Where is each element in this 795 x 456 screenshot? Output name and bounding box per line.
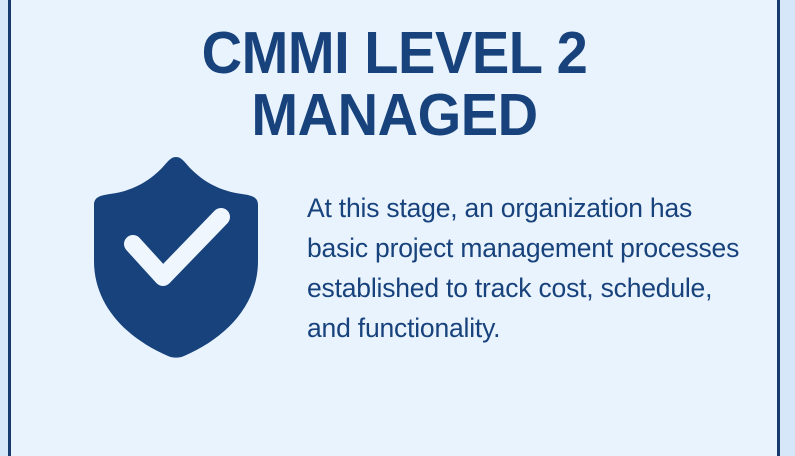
content-row: At this stage, an organization has basic…: [0, 155, 795, 370]
cmmi-level-2-slide: CMMI LEVEL 2 MANAGED At this stage, an o…: [0, 0, 795, 456]
body-paragraph: At this stage, an organization has basic…: [307, 188, 759, 348]
page-title: CMMI LEVEL 2 MANAGED: [31, 22, 758, 146]
shield-check-icon: [92, 155, 260, 360]
